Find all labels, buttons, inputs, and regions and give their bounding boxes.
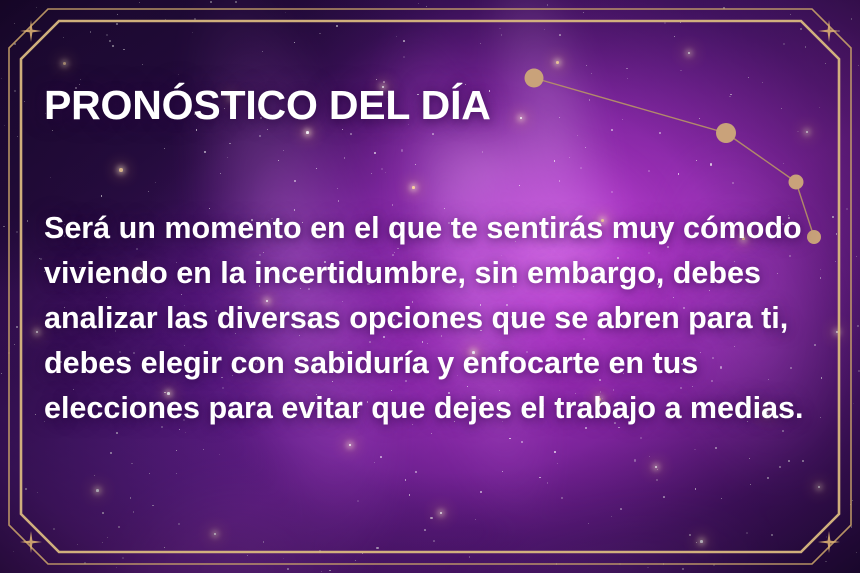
- page-title: PRONÓSTICO DEL DÍA: [44, 84, 830, 127]
- star-dot: [838, 30, 840, 32]
- star-dot: [149, 473, 150, 474]
- star-dot: [748, 77, 749, 78]
- star-dot: [431, 433, 432, 434]
- star-dot: [591, 73, 592, 74]
- star-dot: [148, 191, 149, 192]
- star-dot: [586, 65, 587, 66]
- star-dot: [405, 479, 407, 481]
- star-dot: [556, 563, 558, 565]
- star-dot: [1, 373, 2, 374]
- bright-star: [214, 533, 216, 535]
- star-dot: [106, 34, 108, 36]
- star-dot: [107, 537, 108, 538]
- star-dot: [678, 173, 680, 175]
- star-dot: [846, 208, 848, 210]
- star-dot: [802, 460, 804, 462]
- sparkle-icon-top-right: [818, 20, 840, 42]
- star-dot: [227, 157, 228, 158]
- star-dot: [235, 1, 237, 3]
- star-dot: [357, 500, 359, 502]
- bright-star: [806, 131, 808, 133]
- star-dot: [715, 447, 717, 449]
- star-dot: [577, 135, 578, 136]
- star-dot: [294, 42, 295, 43]
- star-dot: [123, 49, 124, 50]
- star-dot: [569, 157, 570, 158]
- star-dot: [263, 541, 265, 543]
- star-dot: [771, 534, 773, 536]
- star-dot: [16, 231, 18, 233]
- star-dot: [267, 129, 268, 130]
- star-dot: [77, 544, 78, 545]
- star-dot: [680, 22, 681, 23]
- star-dot: [779, 466, 781, 468]
- star-dot: [94, 475, 95, 476]
- star-dot: [797, 131, 799, 133]
- star-dot: [805, 46, 807, 48]
- star-dot: [710, 163, 712, 165]
- star-dot: [457, 551, 458, 552]
- forecast-body-text: Será un momento en el que te sentirás mu…: [44, 206, 824, 431]
- star-dot: [14, 90, 16, 92]
- star-dot: [36, 7, 37, 8]
- star-dot: [851, 526, 852, 527]
- star-dot: [294, 180, 296, 182]
- star-dot: [287, 568, 289, 570]
- star-dot: [63, 37, 64, 38]
- star-dot: [185, 432, 186, 433]
- star-dot: [648, 170, 650, 172]
- star-dot: [482, 151, 484, 153]
- star-dot: [116, 432, 118, 434]
- star-dot: [640, 437, 642, 439]
- star-dot: [647, 567, 648, 568]
- star-dot: [475, 519, 476, 520]
- star-dot: [502, 471, 503, 472]
- star-dot: [396, 36, 397, 37]
- star-dot: [825, 561, 827, 563]
- star-dot: [852, 500, 853, 501]
- star-dot: [850, 504, 851, 505]
- star-dot: [178, 74, 179, 75]
- star-dot: [783, 43, 784, 44]
- star-dot: [4, 125, 5, 126]
- star-dot: [319, 33, 320, 34]
- star-dot: [762, 82, 763, 83]
- star-dot: [611, 129, 613, 131]
- star-dot: [1, 78, 2, 79]
- bright-star: [36, 331, 38, 333]
- star-dot: [585, 147, 586, 148]
- star-dot: [721, 498, 723, 500]
- star-dot: [664, 22, 666, 24]
- star-dot: [40, 258, 42, 260]
- star-dot: [790, 14, 791, 15]
- bright-star: [700, 540, 703, 543]
- star-dot: [25, 488, 27, 490]
- star-dot: [836, 233, 837, 234]
- star-dot: [426, 6, 427, 7]
- star-dot: [337, 188, 338, 189]
- bright-star: [556, 61, 559, 64]
- star-dot: [432, 133, 434, 135]
- sparkle-icon-top-left: [20, 20, 42, 42]
- star-dot: [116, 23, 118, 25]
- star-dot: [611, 191, 613, 193]
- bright-star: [836, 331, 838, 333]
- star-dot: [838, 416, 840, 418]
- star-dot: [220, 173, 221, 174]
- star-dot: [583, 12, 584, 13]
- star-dot: [767, 477, 768, 478]
- star-dot: [338, 200, 339, 201]
- star-dot: [380, 456, 382, 458]
- star-dot: [856, 256, 857, 257]
- star-dot: [694, 449, 695, 450]
- star-dot: [788, 460, 790, 462]
- star-dot: [259, 135, 261, 137]
- star-dot: [680, 70, 682, 72]
- star-dot: [415, 164, 416, 165]
- star-dot: [659, 132, 661, 134]
- star-dot: [362, 553, 363, 554]
- star-dot: [178, 523, 180, 525]
- star-dot: [229, 143, 231, 145]
- star-dot: [262, 51, 263, 52]
- star-dot: [110, 452, 112, 454]
- star-dot: [130, 497, 131, 498]
- star-dot: [499, 28, 500, 29]
- star-dot: [580, 167, 582, 169]
- star-dot: [521, 441, 523, 443]
- star-dot: [723, 7, 725, 9]
- star-dot: [84, 562, 85, 563]
- star-dot: [433, 540, 435, 542]
- star-dot: [695, 488, 697, 490]
- star-dot: [210, 1, 212, 3]
- bright-star: [412, 186, 415, 189]
- star-dot: [192, 32, 193, 33]
- star-dot: [164, 547, 165, 548]
- star-dot: [152, 505, 153, 506]
- star-dot: [835, 261, 836, 262]
- star-dot: [800, 28, 802, 30]
- star-dot: [858, 65, 859, 66]
- star-dot: [176, 450, 177, 451]
- star-dot: [194, 18, 196, 20]
- star-dot: [620, 508, 622, 510]
- star-dot: [102, 512, 104, 514]
- star-dot: [696, 160, 697, 161]
- star-dot: [544, 29, 545, 30]
- star-dot: [501, 34, 502, 35]
- star-dot: [689, 534, 691, 536]
- star-dot: [480, 43, 481, 44]
- star-dot: [321, 571, 323, 573]
- star-dot: [17, 136, 18, 137]
- star-dot: [424, 529, 426, 531]
- star-dot: [856, 552, 858, 554]
- star-dot: [857, 325, 859, 327]
- star-dot: [547, 482, 549, 484]
- star-dot: [316, 168, 317, 169]
- star-dot: [826, 536, 828, 538]
- star-dot: [480, 491, 482, 493]
- star-dot: [682, 568, 683, 569]
- bright-star: [96, 489, 99, 492]
- star-dot: [118, 526, 120, 528]
- star-dot: [832, 216, 833, 217]
- star-dot: [418, 3, 419, 4]
- star-dot: [430, 517, 432, 519]
- star-dot: [409, 494, 410, 495]
- star-dot: [619, 563, 621, 565]
- bright-star: [818, 486, 820, 488]
- star-dot: [790, 184, 792, 186]
- star-dot: [539, 477, 541, 479]
- star-dot: [80, 79, 81, 80]
- star-dot: [374, 462, 375, 463]
- star-dot: [825, 63, 826, 64]
- star-dot: [14, 43, 15, 44]
- star-dot: [713, 564, 715, 566]
- star-dot: [350, 133, 352, 135]
- star-dot: [657, 469, 658, 470]
- sparkle-icon-bottom-left: [20, 531, 42, 553]
- star-dot: [381, 168, 383, 170]
- star-dot: [116, 567, 118, 569]
- star-dot: [588, 523, 589, 524]
- bright-star: [119, 168, 123, 172]
- star-dot: [634, 459, 636, 461]
- star-dot: [559, 180, 560, 181]
- star-dot: [285, 12, 286, 13]
- star-dot: [133, 511, 134, 512]
- horoscope-forecast-card: PRONÓSTICO DEL DÍA Será un momento en el…: [0, 0, 860, 573]
- star-dot: [750, 484, 751, 485]
- star-dot: [3, 226, 4, 227]
- star-dot: [52, 130, 53, 131]
- star-dot: [749, 458, 750, 459]
- star-dot: [838, 76, 839, 77]
- star-dot: [16, 326, 18, 328]
- star-dot: [626, 68, 628, 70]
- bright-star: [306, 131, 309, 134]
- star-dot: [403, 56, 405, 58]
- star-dot: [155, 182, 156, 183]
- star-dot: [557, 463, 558, 464]
- star-dot: [37, 492, 38, 493]
- star-dot: [53, 528, 55, 530]
- star-dot: [401, 149, 403, 151]
- bright-star: [440, 512, 442, 514]
- bright-star: [655, 466, 657, 468]
- star-dot: [196, 129, 198, 131]
- star-dot: [415, 471, 417, 473]
- star-dot: [90, 31, 92, 33]
- star-dot: [139, 2, 140, 3]
- star-dot: [319, 550, 321, 552]
- star-dot: [554, 160, 556, 162]
- star-dot: [376, 79, 377, 80]
- sparkle-icon-bottom-right: [818, 531, 840, 553]
- star-dot: [176, 473, 177, 474]
- star-dot: [109, 40, 110, 41]
- star-dot: [469, 556, 471, 558]
- star-dot: [554, 451, 556, 453]
- star-dot: [656, 479, 658, 481]
- star-dot: [122, 557, 124, 559]
- star-dot: [165, 19, 166, 20]
- star-dot: [278, 160, 279, 161]
- star-dot: [14, 23, 15, 24]
- star-dot: [27, 220, 28, 221]
- star-dot: [336, 25, 338, 27]
- star-dot: [385, 172, 386, 173]
- star-dot: [403, 40, 405, 42]
- star-dot: [283, 150, 284, 151]
- star-dot: [611, 516, 612, 517]
- star-dot: [355, 560, 356, 561]
- star-dot: [164, 148, 166, 150]
- star-dot: [112, 45, 114, 47]
- star-dot: [746, 532, 748, 534]
- card-content: PRONÓSTICO DEL DÍA Será un momento en el…: [44, 84, 830, 127]
- star-dot: [117, 14, 118, 15]
- star-dot: [101, 195, 103, 197]
- star-dot: [371, 173, 372, 174]
- star-dot: [13, 551, 14, 552]
- star-dot: [783, 163, 784, 164]
- star-dot: [561, 497, 563, 499]
- star-dot: [853, 403, 854, 404]
- star-dot: [39, 258, 40, 259]
- star-dot: [663, 563, 664, 564]
- star-dot: [376, 547, 378, 549]
- star-dot: [547, 4, 548, 5]
- star-dot: [851, 18, 853, 20]
- star-dot: [342, 129, 343, 130]
- star-dot: [732, 182, 734, 184]
- star-dot: [131, 463, 132, 464]
- star-dot: [203, 449, 204, 450]
- star-dot: [696, 542, 697, 543]
- star-dot: [24, 101, 25, 102]
- star-dot: [329, 570, 330, 571]
- star-dot: [14, 344, 15, 345]
- bright-star: [63, 62, 66, 65]
- star-dot: [247, 555, 249, 557]
- star-dot: [344, 157, 346, 159]
- star-dot: [674, 36, 675, 37]
- star-dot: [559, 34, 561, 36]
- star-dot: [627, 78, 628, 79]
- star-dot: [374, 152, 376, 154]
- star-dot: [8, 352, 10, 354]
- star-dot: [283, 558, 284, 559]
- star-dot: [663, 496, 665, 498]
- star-dot: [649, 456, 650, 457]
- star-dot: [35, 414, 36, 415]
- star-dot: [509, 438, 511, 440]
- star-dot: [102, 542, 103, 543]
- star-dot: [50, 177, 51, 178]
- star-dot: [204, 151, 205, 152]
- star-dot: [519, 185, 520, 186]
- bright-star: [688, 52, 690, 54]
- star-dot: [219, 454, 220, 455]
- bright-star: [349, 444, 351, 446]
- star-dot: [142, 64, 143, 65]
